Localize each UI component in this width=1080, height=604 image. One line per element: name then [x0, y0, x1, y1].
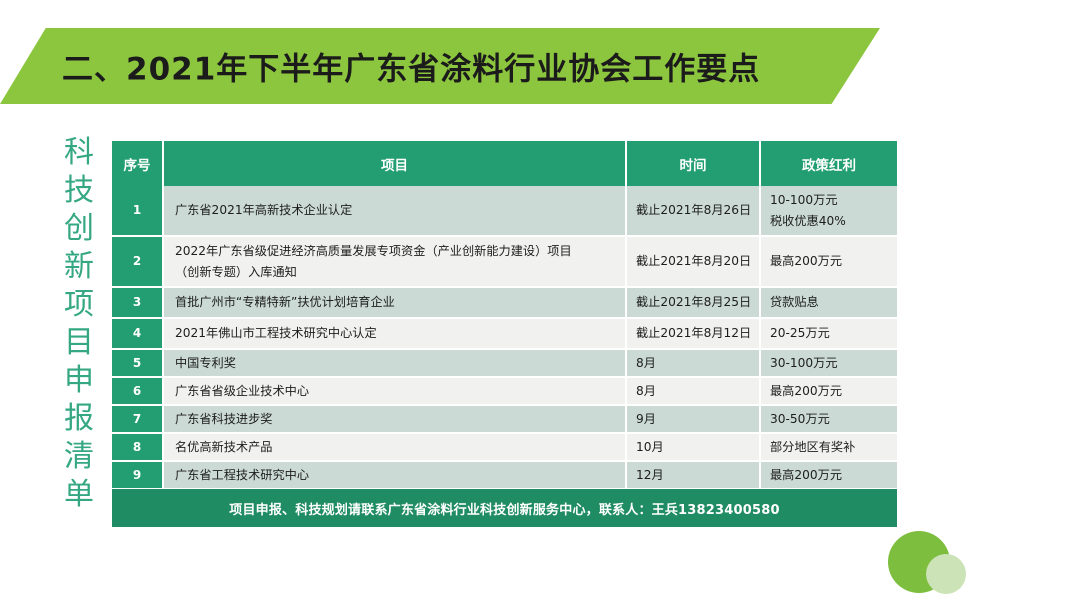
cell-policy: 最高200万元 [761, 462, 897, 490]
cell-item-line1: 广东省2021年高新技术企业认定 [175, 200, 619, 221]
side-label-char: 报 [64, 400, 94, 438]
vertical-section-label: 科 技 创 新 项 目 申 报 清 单 [56, 134, 102, 514]
cell-seq: 3 [112, 288, 164, 319]
cell-policy: 最高200万元 [761, 237, 897, 288]
cell-time: 9月 [627, 406, 761, 434]
cell-policy: 贷款贴息 [761, 288, 897, 319]
cell-seq: 8 [112, 434, 164, 462]
column-header-time: 时间 [627, 141, 761, 186]
cell-time: 截止2021年8月20日 [627, 237, 761, 288]
cell-item-line2: （创新专题）入库通知 [175, 262, 619, 283]
cell-item: 广东省2021年高新技术企业认定 [164, 186, 627, 237]
cell-time: 截止2021年8月12日 [627, 319, 761, 350]
side-label-char: 申 [64, 362, 94, 400]
cell-seq: 5 [112, 350, 164, 378]
side-label-char: 科 [64, 134, 94, 172]
cell-seq: 2 [112, 237, 164, 288]
title-banner: 二、2021年下半年广东省涂料行业协会工作要点 [0, 28, 880, 104]
side-label-char: 目 [64, 324, 94, 362]
cell-time: 10月 [627, 434, 761, 462]
cell-policy-line2: 税收优惠40% [770, 211, 896, 232]
cell-item: 中国专利奖 [164, 350, 627, 378]
side-label-char: 项 [64, 286, 94, 324]
cell-seq: 6 [112, 378, 164, 406]
cell-item: 2021年佛山市工程技术研究中心认定 [164, 319, 627, 350]
column-header-item: 项目 [164, 141, 627, 186]
table-row: 8 名优高新技术产品 10月 部分地区有奖补 [112, 434, 897, 462]
table-row: 5 中国专利奖 8月 30-100万元 [112, 350, 897, 378]
cell-item: 名优高新技术产品 [164, 434, 627, 462]
table-row: 3 首批广州市“专精特新”扶优计划培育企业 截止2021年8月25日 贷款贴息 [112, 288, 897, 319]
cell-item: 广东省工程技术研究中心 [164, 462, 627, 490]
column-header-seq: 序号 [112, 141, 164, 186]
column-header-policy: 政策红利 [761, 141, 897, 186]
cell-item: 广东省省级企业技术中心 [164, 378, 627, 406]
contact-footer-bar: 项目申报、科技规划请联系广东省涂料行业科技创新服务中心，联系人：王兵138234… [112, 489, 897, 527]
cell-policy: 30-100万元 [761, 350, 897, 378]
cell-policy: 部分地区有奖补 [761, 434, 897, 462]
table-row: 6 广东省省级企业技术中心 8月 最高200万元 [112, 378, 897, 406]
page-title: 二、2021年下半年广东省涂料行业协会工作要点 [62, 44, 760, 89]
side-label-char: 技 [64, 172, 94, 210]
cell-policy-line1: 10-100万元 [770, 190, 896, 211]
cell-time: 8月 [627, 350, 761, 378]
cell-item: 首批广州市“专精特新”扶优计划培育企业 [164, 288, 627, 319]
cell-item: 广东省科技进步奖 [164, 406, 627, 434]
table-header-row: 序号 项目 时间 政策红利 [112, 141, 897, 186]
cell-policy: 30-50万元 [761, 406, 897, 434]
side-label-char: 单 [64, 476, 94, 514]
cell-seq: 9 [112, 462, 164, 490]
cell-seq: 4 [112, 319, 164, 350]
decorative-circle-small [926, 554, 966, 594]
project-table-container: 序号 项目 时间 政策红利 1 广东省2021年高新技术企业认定 截止2021年… [112, 141, 897, 490]
side-label-char: 清 [64, 438, 94, 476]
table-row: 9 广东省工程技术研究中心 12月 最高200万元 [112, 462, 897, 490]
table-row: 4 2021年佛山市工程技术研究中心认定 截止2021年8月12日 20-25万… [112, 319, 897, 350]
cell-item-line1: 2022年广东省级促进经济高质量发展专项资金（产业创新能力建设）项目 [175, 241, 619, 262]
project-table: 序号 项目 时间 政策红利 1 广东省2021年高新技术企业认定 截止2021年… [112, 141, 897, 490]
cell-policy: 最高200万元 [761, 378, 897, 406]
cell-seq: 1 [112, 186, 164, 237]
table-row: 1 广东省2021年高新技术企业认定 截止2021年8月26日 10-100万元… [112, 186, 897, 237]
cell-time: 截止2021年8月26日 [627, 186, 761, 237]
cell-item: 2022年广东省级促进经济高质量发展专项资金（产业创新能力建设）项目 （创新专题… [164, 237, 627, 288]
cell-seq: 7 [112, 406, 164, 434]
side-label-char: 创 [64, 210, 94, 248]
table-row: 7 广东省科技进步奖 9月 30-50万元 [112, 406, 897, 434]
cell-time: 8月 [627, 378, 761, 406]
cell-time: 12月 [627, 462, 761, 490]
cell-time: 截止2021年8月25日 [627, 288, 761, 319]
cell-policy: 10-100万元 税收优惠40% [761, 186, 897, 237]
cell-policy-line1: 最高200万元 [770, 251, 896, 272]
table-header: 序号 项目 时间 政策红利 [112, 141, 897, 186]
side-label-char: 新 [64, 248, 94, 286]
table-body: 1 广东省2021年高新技术企业认定 截止2021年8月26日 10-100万元… [112, 186, 897, 490]
cell-policy: 20-25万元 [761, 319, 897, 350]
table-row: 2 2022年广东省级促进经济高质量发展专项资金（产业创新能力建设）项目 （创新… [112, 237, 897, 288]
